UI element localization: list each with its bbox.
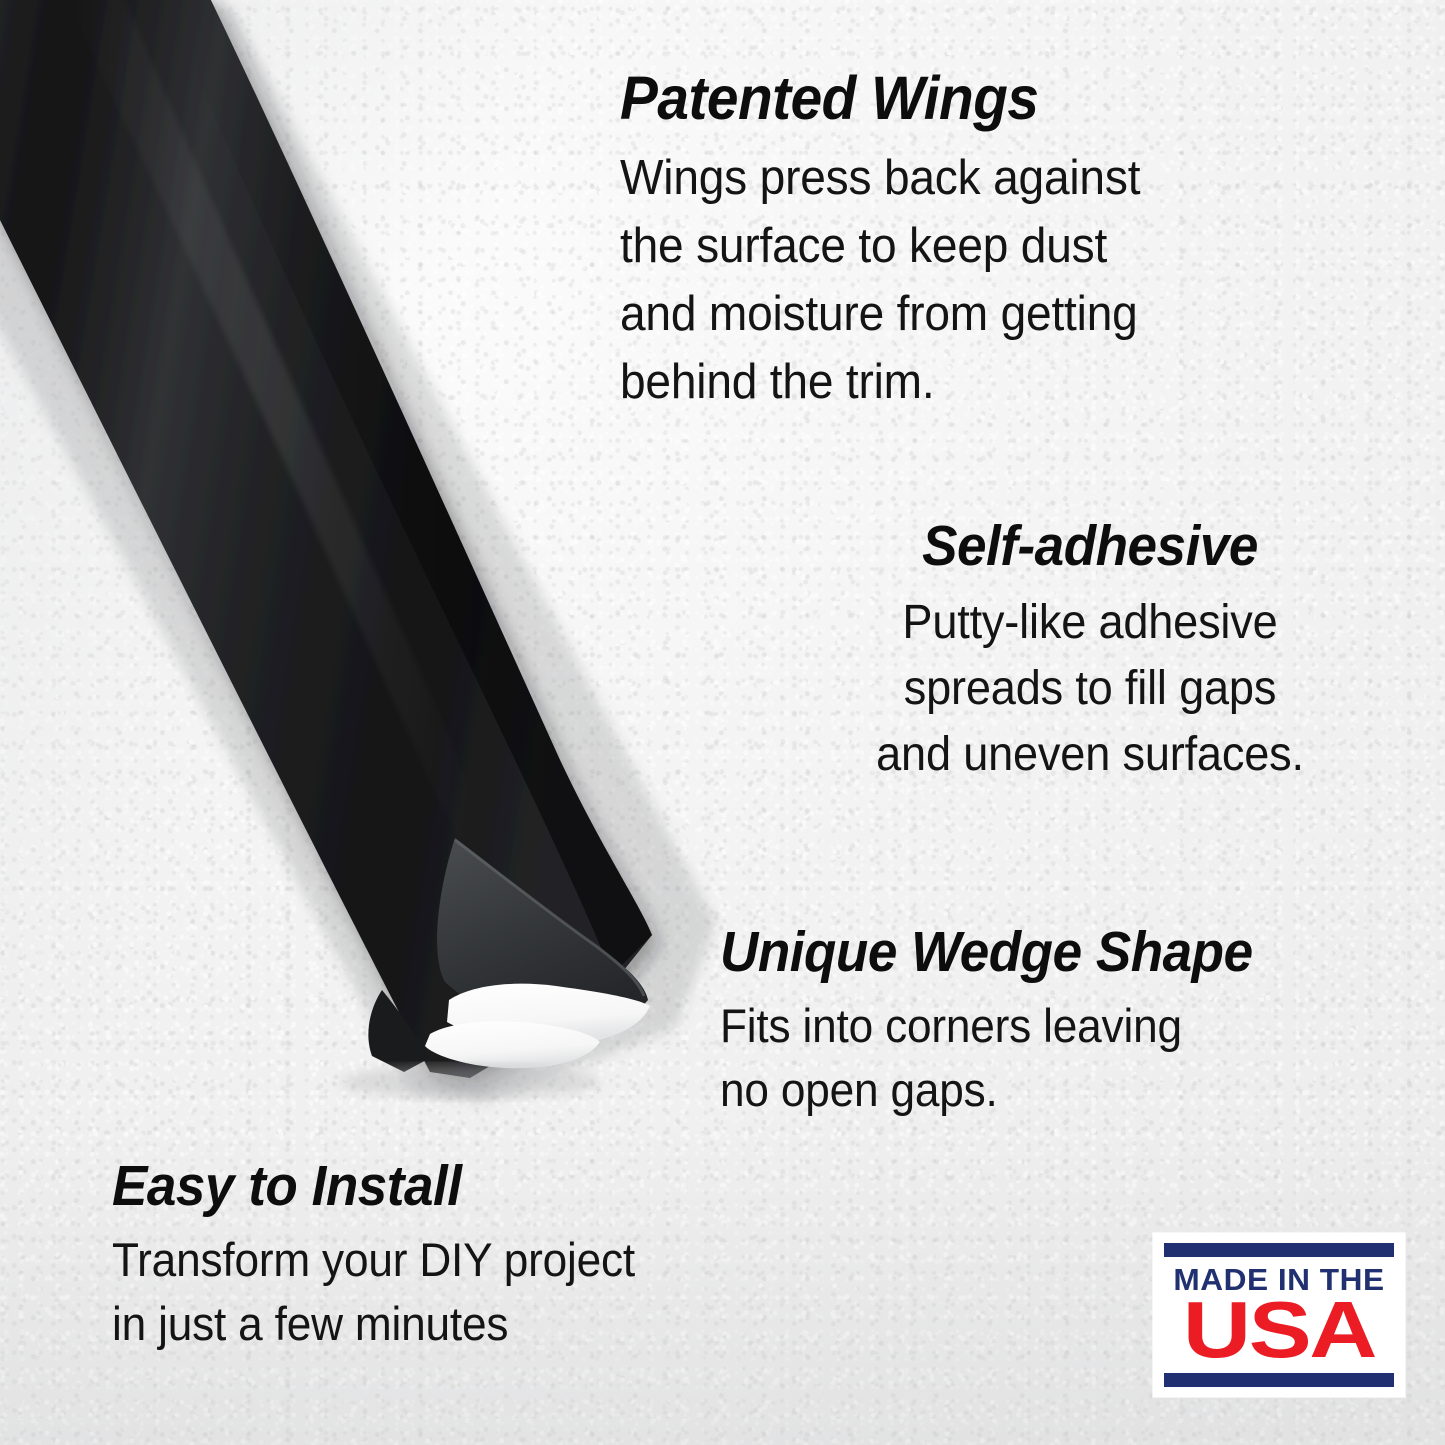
feature-body-line: in just a few minutes <box>112 1292 770 1356</box>
trim-contact-shadow <box>340 1065 600 1099</box>
badge-bottom-bar <box>1164 1373 1394 1387</box>
feature-heading: Unique Wedge Shape <box>720 918 1362 986</box>
feature-block-self-adhesive: Self-adhesive Putty-like adhesive spread… <box>800 512 1380 788</box>
feature-block-unique-wedge-shape: Unique Wedge Shape Fits into corners lea… <box>720 918 1410 1122</box>
feature-body-line: and moisture from getting <box>620 280 1259 348</box>
badge-top-bar <box>1164 1243 1394 1257</box>
feature-body: Fits into corners leaving no open gaps. <box>720 994 1410 1122</box>
feature-heading: Self-adhesive <box>820 512 1359 580</box>
feature-block-patented-wings: Patented Wings Wings press back against … <box>620 62 1300 416</box>
feature-body-line: behind the trim. <box>620 348 1259 416</box>
feature-body-line: no open gaps. <box>720 1058 1369 1122</box>
feature-body-line: Transform your DIY project <box>112 1228 770 1292</box>
feature-body: Wings press back against the surface to … <box>620 144 1300 416</box>
feature-body-line: spreads to fill gaps <box>817 656 1362 722</box>
feature-block-easy-to-install: Easy to Install Transform your DIY proje… <box>112 1152 812 1356</box>
feature-heading: Patented Wings <box>620 62 1252 134</box>
badge-text-group: MADE IN THE USA <box>1164 1259 1394 1371</box>
feature-body: Putty-like adhesive spreads to fill gaps… <box>800 590 1380 788</box>
feature-body-line: Fits into corners leaving <box>720 994 1369 1058</box>
feature-body: Transform your DIY project in just a few… <box>112 1228 812 1356</box>
badge-usa-text: USA <box>1143 1294 1414 1366</box>
feature-body-line: Putty-like adhesive <box>817 590 1362 656</box>
feature-body-line: the surface to keep dust <box>620 212 1259 280</box>
feature-body-line: and uneven surfaces. <box>817 722 1362 788</box>
infographic-canvas: Patented Wings Wings press back against … <box>0 0 1445 1445</box>
made-in-usa-badge: MADE IN THE USA <box>1153 1233 1405 1397</box>
feature-heading: Easy to Install <box>112 1152 763 1220</box>
feature-body-line: Wings press back against <box>620 144 1259 212</box>
